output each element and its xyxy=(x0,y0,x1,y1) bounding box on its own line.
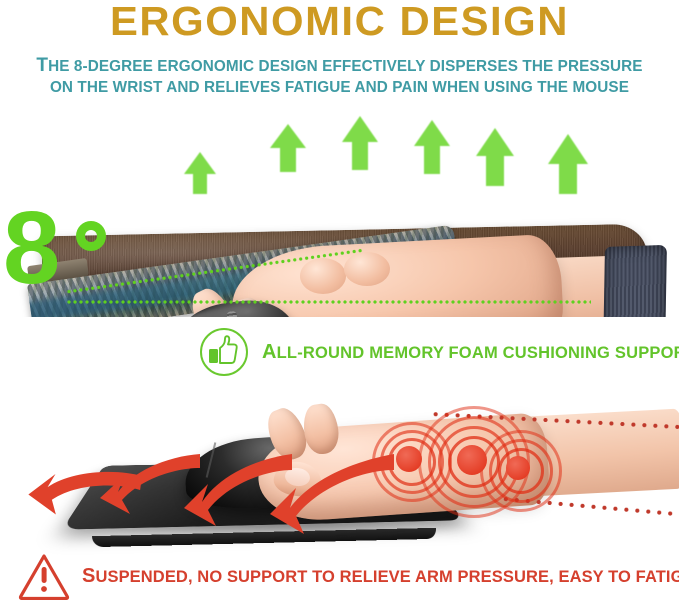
infographic-page: ERGONOMIC DESIGN THE 8-DEGREE ERGONOMIC … xyxy=(0,0,679,610)
knuckle-2 xyxy=(344,252,390,286)
pressure-point-3 xyxy=(506,456,530,480)
page-title: ERGONOMIC DESIGN xyxy=(0,0,679,45)
subtitle-line-1-text: HE 8-DEGREE ERGONOMIC DESIGN EFFECTIVELY… xyxy=(48,58,643,75)
good-caption-body: LL-ROUND MEMORY FOAM CUSHIONING SUPPORT xyxy=(277,344,679,362)
support-arrow-4 xyxy=(474,126,516,188)
pressure-point-2 xyxy=(457,445,487,475)
angle-guide-line-lower xyxy=(66,300,591,304)
support-arrow-2 xyxy=(340,114,380,172)
bad-caption-body: USPENDED, NO SUPPORT TO RELIEVE ARM PRES… xyxy=(95,568,679,586)
warning-triangle-icon xyxy=(18,552,70,600)
good-caption-text: ALL-ROUND MEMORY FOAM CUSHIONING SUPPORT xyxy=(262,341,679,364)
bad-caption-row: SUSPENDED, NO SUPPORT TO RELIEVE ARM PRE… xyxy=(18,552,679,600)
good-caption-dropcap: A xyxy=(262,341,277,363)
knit-sleeve xyxy=(603,245,667,317)
support-arrow-1 xyxy=(268,122,308,174)
degree-symbol-icon xyxy=(76,221,106,251)
subtitle-line-1: THE 8-DEGREE ERGONOMIC DESIGN EFFECTIVEL… xyxy=(0,55,679,77)
subtitle-line-2: ON THE WRIST AND RELIEVES FATIGUE AND PA… xyxy=(0,77,679,98)
subtitle-dropcap: T xyxy=(36,55,48,76)
thumbs-up-icon xyxy=(200,328,248,376)
scene-bottom-flat-pad xyxy=(0,386,679,571)
bad-caption-dropcap: S xyxy=(82,565,95,587)
pressure-arrow-4 xyxy=(268,450,408,547)
good-caption-row: ALL-ROUND MEMORY FOAM CUSHIONING SUPPORT xyxy=(200,328,679,376)
bad-caption-text: SUSPENDED, NO SUPPORT TO RELIEVE ARM PRE… xyxy=(82,565,679,588)
page-subtitle: THE 8-DEGREE ERGONOMIC DESIGN EFFECTIVEL… xyxy=(0,55,679,98)
support-arrow-6 xyxy=(182,150,218,196)
support-arrow-3 xyxy=(412,118,452,176)
support-arrow-5 xyxy=(546,132,590,196)
knuckle-1 xyxy=(300,258,346,294)
angle-value: 8 xyxy=(3,204,60,293)
